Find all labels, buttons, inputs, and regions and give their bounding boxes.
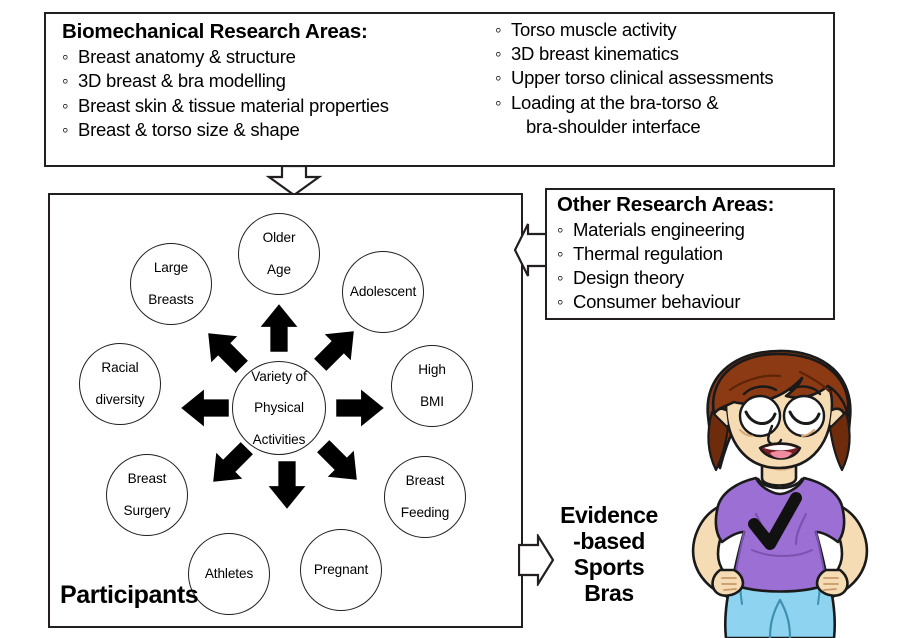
list-item: Upper torso clinical assessments: [495, 66, 833, 90]
participant-node-older-age: OlderAge: [238, 213, 320, 295]
biomech-heading: Biomechanical Research Areas:: [62, 20, 489, 44]
node-line: Physical: [249, 400, 308, 416]
node-line: High: [416, 362, 448, 378]
node-line: Athletes: [203, 566, 255, 582]
list-item: Breast & torso size & shape: [62, 118, 489, 142]
list-item: Consumer behaviour: [557, 290, 833, 314]
biomech-right-list: Torso muscle activity 3D breast kinemati…: [495, 18, 833, 139]
outcome-line: Bras: [548, 580, 670, 606]
participant-node-racial-diversity: Racialdiversity: [79, 343, 161, 425]
outcome-line: Sports: [548, 554, 670, 580]
node-line: Breasts: [146, 292, 195, 308]
participants-label: Participants: [60, 583, 198, 608]
node-line: Racial: [94, 360, 147, 376]
node-line: Adolescent: [348, 284, 418, 300]
arrow-left-icon: [514, 222, 548, 278]
list-item: Torso muscle activity: [495, 18, 833, 42]
node-line: Large: [146, 260, 195, 276]
list-item: 3D breast kinematics: [495, 42, 833, 66]
node-line: Variety of: [249, 369, 308, 385]
participant-node-pregnant: Pregnant: [300, 529, 382, 611]
list-item: Design theory: [557, 266, 833, 290]
participant-node-adolescent: Adolescent: [342, 251, 424, 333]
participant-node-high-bmi: HighBMI: [391, 345, 473, 427]
evidence-based-sports-bras-label: Evidence -based Sports Bras: [548, 502, 670, 606]
list-item-continuation: bra-shoulder interface: [495, 115, 833, 139]
biomechanical-research-areas-box: Biomechanical Research Areas: Breast ana…: [44, 12, 835, 167]
list-item: Breast skin & tissue material properties: [62, 94, 489, 118]
participant-node-large-breasts: LargeBreasts: [130, 243, 212, 325]
biomech-left-list: Breast anatomy & structure 3D breast & b…: [62, 45, 489, 142]
participant-node-breast-feeding: BreastFeeding: [384, 456, 466, 538]
list-item: Thermal regulation: [557, 242, 833, 266]
node-line: Older: [261, 230, 298, 246]
node-line: Age: [261, 262, 298, 278]
list-item: Materials engineering: [557, 218, 833, 242]
arrow-down-icon: [264, 166, 324, 196]
other-research-list: Materials engineering Thermal regulation…: [557, 218, 833, 314]
woman-illustration: [660, 338, 900, 638]
node-line: Surgery: [122, 503, 173, 519]
radial-arrow-left-icon: [178, 381, 232, 435]
other-research-heading: Other Research Areas:: [557, 193, 833, 217]
biomech-left-column: Biomechanical Research Areas: Breast ana…: [46, 18, 489, 165]
outcome-line: Evidence: [548, 502, 670, 528]
list-item: 3D breast & bra modelling: [62, 69, 489, 93]
other-research-areas-box: Other Research Areas: Materials engineer…: [545, 188, 835, 320]
node-line: Pregnant: [312, 562, 370, 578]
node-line: Breast: [122, 471, 173, 487]
node-line: BMI: [416, 394, 448, 410]
participant-node-center-variety: Variety ofPhysicalActivities: [232, 361, 326, 455]
radial-arrow-down-icon: [260, 458, 314, 512]
node-line: Feeding: [399, 505, 451, 521]
node-line: Activities: [249, 432, 308, 448]
biomech-right-column: Torso muscle activity 3D breast kinemati…: [489, 18, 833, 165]
node-line: Breast: [399, 473, 451, 489]
list-item: Breast anatomy & structure: [62, 45, 489, 69]
list-item: Loading at the bra-torso &: [495, 91, 833, 115]
participant-node-breast-surgery: BreastSurgery: [106, 454, 188, 536]
participants-cluster: OlderAge Adolescent HighBMI BreastFeedin…: [48, 193, 523, 628]
outcome-line: -based: [548, 528, 670, 554]
participant-node-athletes: Athletes: [188, 533, 270, 615]
node-line: diversity: [94, 392, 147, 408]
